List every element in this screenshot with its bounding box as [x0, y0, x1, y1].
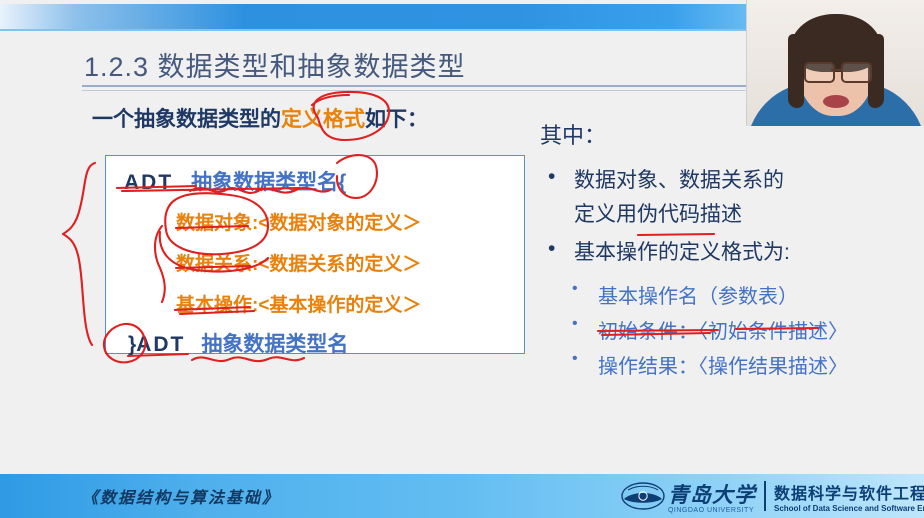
sub-bullet-operation-result-text: 操作结果：〈操作结果描述〉: [598, 356, 848, 378]
bullet-dot-icon: •: [548, 165, 555, 189]
bullet-item-1-text: 数据对象、数据关系的: [574, 169, 784, 192]
sub-bullet-dot-icon: •: [572, 315, 578, 333]
page-title: 1.2.3 数据类型和抽象数据类型: [84, 45, 466, 84]
adt-keyword-close: ADT: [136, 333, 185, 356]
subtitle-highlight: 定义格式: [281, 108, 365, 131]
university-name-cn: 青岛大学: [668, 479, 756, 509]
sub-bullet-initial-condition-text: 初始条件：〈初始条件描述〉: [598, 321, 848, 343]
university-name-en: QINGDAO UNIVERSITY: [666, 507, 756, 514]
emblem-svg: [620, 479, 666, 513]
subtitle-suffix: 如下：: [365, 108, 428, 131]
university-emblem-icon: [620, 479, 666, 513]
presenter-glasses-right: [841, 62, 872, 83]
adt-data-relation-row: 数据关系:<数据关系的定义＞: [176, 249, 421, 276]
bullet-item-1: • 数据对象、数据关系的: [540, 164, 920, 194]
adt-type-name-open: 抽象数据类型名: [191, 171, 338, 194]
bullet-dot-icon: •: [548, 237, 555, 261]
title-divider-primary: [82, 85, 760, 87]
presenter-glasses-bridge: [831, 69, 841, 71]
adt-header-line: ADT抽象数据类型名{: [124, 166, 346, 196]
sub-bullet-operation-name-text: 基本操作名（参数表）: [598, 286, 798, 308]
bullet-item-2-text: 基本操作的定义格式为:: [574, 241, 790, 264]
adt-basic-operation-row: 基本操作:<基本操作的定义＞: [176, 290, 421, 317]
bullet-item-1-continuation: 定义用伪代码描述: [540, 198, 920, 228]
adt-type-name-close: 抽象数据类型名: [201, 333, 348, 356]
course-title: 《数据结构与算法基础》: [82, 484, 280, 508]
ink-left-big-brace: [63, 163, 95, 345]
adt-keyword-open: ADT: [124, 171, 173, 194]
sub-bullet-dot-icon: •: [572, 350, 578, 368]
logo-divider: [764, 481, 766, 511]
presenter-hair-left: [788, 34, 804, 108]
bullet-item-2: • 基本操作的定义格式为:: [540, 236, 920, 266]
top-decoration-underline: [0, 29, 762, 31]
right-explanation-column: 其中： • 数据对象、数据关系的 定义用伪代码描述 • 基本操作的定义格式为: …: [540, 118, 920, 385]
presenter-mouth: [823, 95, 849, 108]
adt-open-brace: {: [338, 171, 346, 194]
slide-footer-bar: 《数据结构与算法基础》 青岛大学 QINGDAO UNIVERSITY 数据科学…: [0, 474, 924, 518]
sub-bullet-initial-condition: • 初始条件：〈初始条件描述〉: [540, 315, 920, 344]
title-divider-secondary: [82, 90, 760, 91]
sub-bullet-dot-icon: •: [572, 280, 578, 298]
sub-bullet-operation-result: • 操作结果：〈操作结果描述〉: [540, 350, 920, 379]
adt-close-brace: }: [128, 333, 136, 356]
slide-canvas: 1.2.3 数据类型和抽象数据类型 一个抽象数据类型的定义格式如下： ADT抽象…: [0, 0, 924, 518]
subtitle-prefix: 一个抽象数据类型: [92, 108, 260, 131]
university-logo-block: 青岛大学 QINGDAO UNIVERSITY 数据科学与软件工程学院 Scho…: [620, 478, 924, 514]
adt-footer-line: }ADT抽象数据类型名: [128, 328, 348, 358]
presenter-glasses-left: [804, 62, 835, 83]
sub-bullet-operation-name: • 基本操作名（参数表）: [540, 280, 920, 309]
adt-data-object-row: 数据对象:<数据对象的定义＞: [176, 208, 421, 235]
top-decoration-bar: [0, 4, 762, 29]
subtitle-of: 的: [260, 108, 281, 131]
subtitle-line: 一个抽象数据类型的定义格式如下：: [92, 103, 428, 133]
adt-definition-box: ADT抽象数据类型名{ 数据对象:<数据对象的定义＞ 数据关系:<数据关系的定义…: [105, 155, 525, 354]
presenter-video-overlay[interactable]: [746, 0, 924, 126]
school-name-cn: 数据科学与软件工程学院: [774, 480, 924, 504]
school-name-en: School of Data Science and Software Engi…: [774, 504, 924, 513]
